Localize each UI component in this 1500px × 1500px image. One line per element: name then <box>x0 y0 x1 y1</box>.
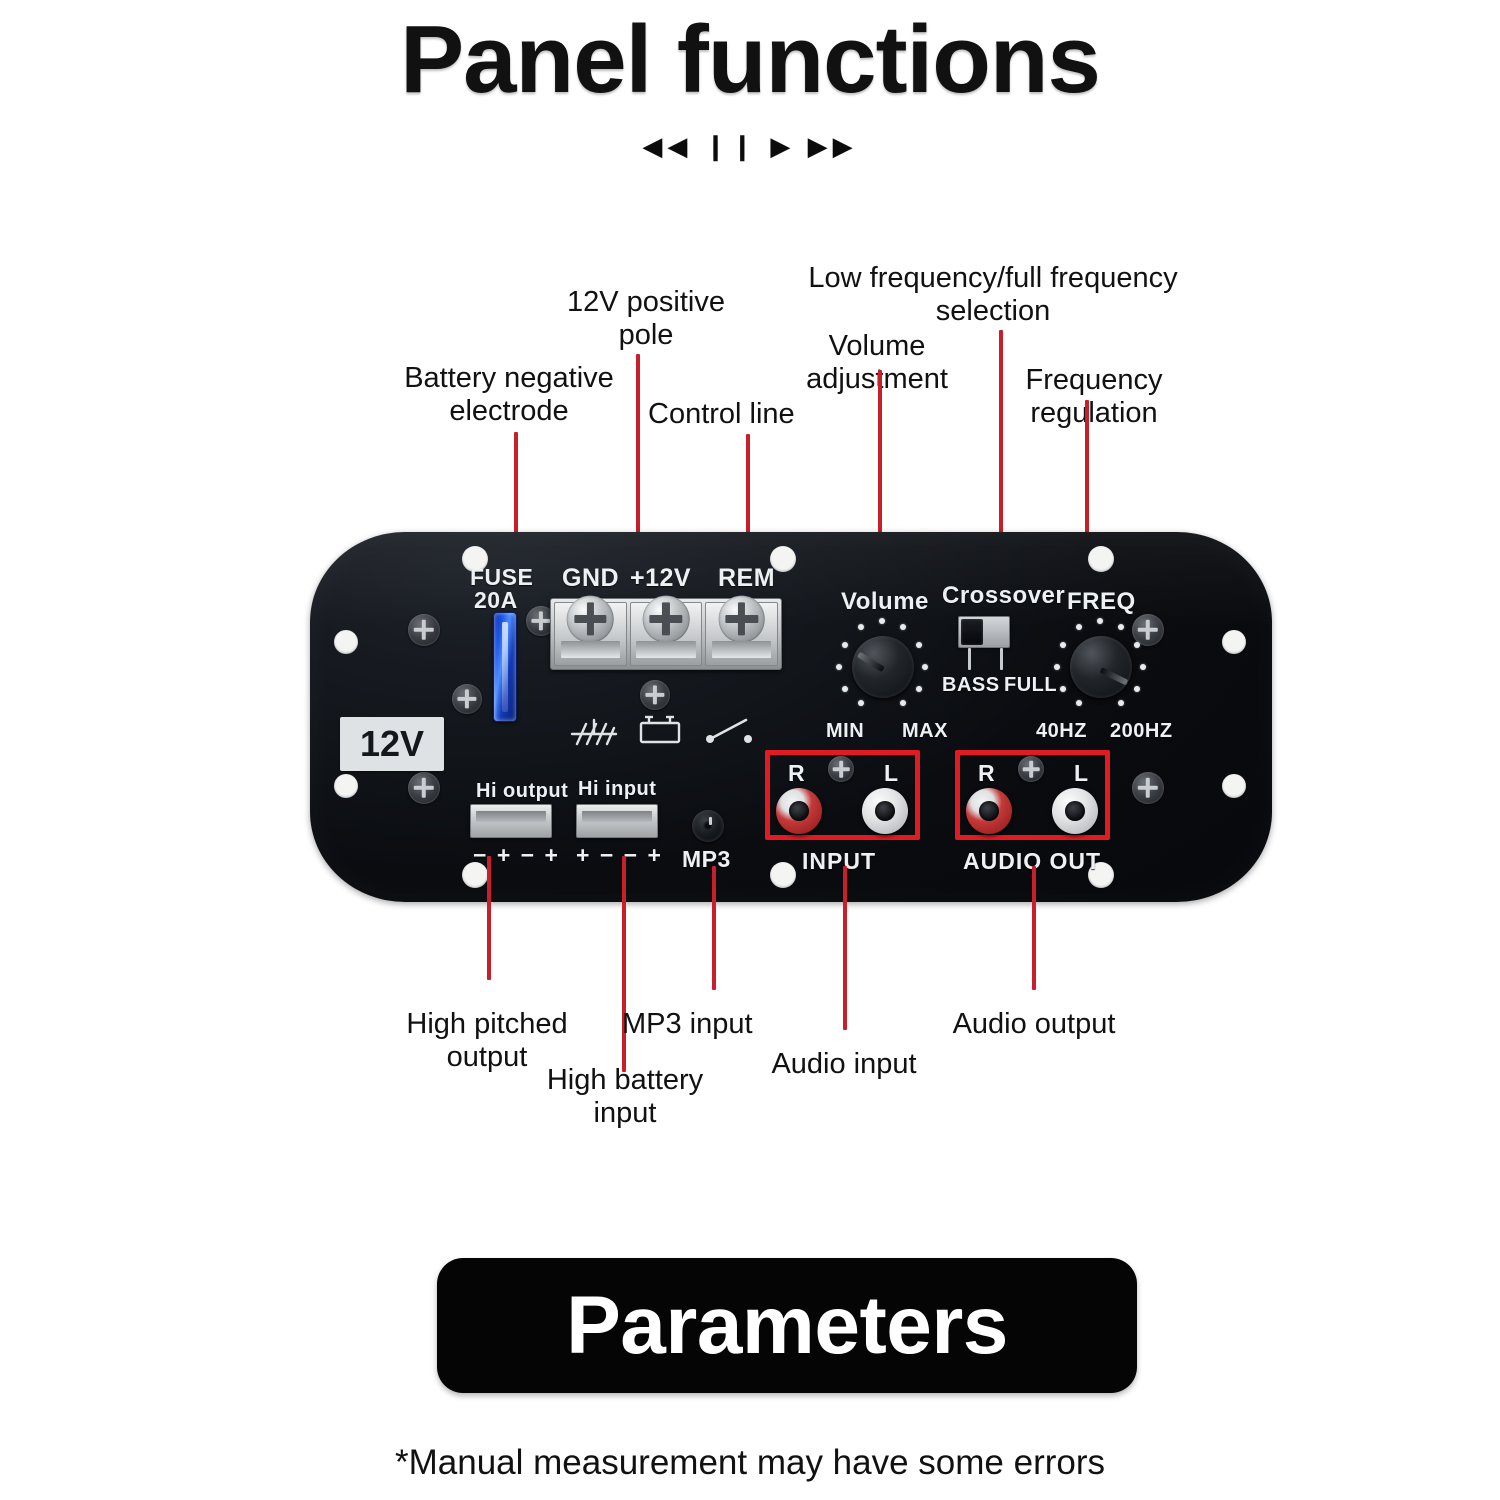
amplifier-board: FUSE 20A 12V GND +12V REM <box>310 532 1272 902</box>
callout-lowfreq-line1: Low frequency/full frequency <box>764 262 1222 295</box>
volume-label: Volume <box>841 588 929 616</box>
hi-input-connector[interactable] <box>576 804 658 838</box>
knob-tick-dot <box>1076 624 1082 630</box>
screw <box>408 772 440 804</box>
freq-knob-assembly[interactable] <box>1052 618 1148 714</box>
callout-12v-positive-line2: pole <box>540 319 752 352</box>
knob-tick-dot <box>836 664 842 670</box>
mounting-hole <box>1222 774 1246 798</box>
screw <box>452 684 482 714</box>
knob-tick-dot <box>842 686 848 692</box>
crossover-switch-leg <box>1000 648 1003 670</box>
callout-high-battery-line2: input <box>510 1097 740 1130</box>
freq-label: FREQ <box>1067 588 1136 616</box>
hi-input-polarity: + − − + <box>576 842 663 869</box>
crossover-switch-leg <box>968 648 971 670</box>
knob-tick-dot <box>1097 618 1103 624</box>
ground-symbol-icon <box>568 712 620 751</box>
terminal-label-plus12v: +12V <box>630 564 691 593</box>
terminal-screw-icon <box>567 596 614 643</box>
hi-output-connector[interactable] <box>470 804 552 838</box>
terminal-plus12v[interactable] <box>630 602 703 666</box>
screw <box>408 614 440 646</box>
knob-tick-dot <box>900 700 906 706</box>
callout-battery-negative-line1: Battery negative <box>378 362 640 395</box>
callout-high-pitched-line1: High pitched <box>372 1008 602 1041</box>
knob-tick-dot <box>916 686 922 692</box>
rca-jack-input-right[interactable] <box>776 788 822 834</box>
knob-tick-dot <box>1118 700 1124 706</box>
page-title: Panel functions <box>0 12 1500 108</box>
rca-output-left-label: L <box>1074 760 1089 787</box>
knob-tick-dot <box>1054 664 1060 670</box>
mounting-hole <box>1222 630 1246 654</box>
power-terminal-block[interactable] <box>550 598 782 670</box>
pointer-mp3-input <box>712 866 716 990</box>
terminal-slot <box>712 641 771 657</box>
rca-input-group-label: INPUT <box>802 848 876 875</box>
callout-12v-positive-pole: 12V positive pole <box>540 286 752 352</box>
volume-min-label: MIN <box>826 720 864 743</box>
knob-indicator <box>1100 667 1128 685</box>
pointer-audio-output <box>1032 866 1036 990</box>
knob-tick-dot <box>842 642 848 648</box>
callout-volume-adjustment: Volume adjustment <box>778 330 976 396</box>
knob-tick-dot <box>900 624 906 630</box>
rca-jack-input-left[interactable] <box>862 788 908 834</box>
callout-control-line-text: Control line <box>648 398 844 431</box>
callout-frequency-line1: Frequency <box>996 364 1192 397</box>
freq-max-label: 200HZ <box>1110 720 1173 743</box>
media-controls-icon-row: ◀◀ ❙❙ ▶ ▶▶ ◀◀ ❙❙ ▶ ▶▶ <box>0 133 1500 159</box>
callout-mp3-input: MP3 input <box>622 1008 802 1041</box>
terminal-gnd[interactable] <box>554 602 627 666</box>
knob-tick-dot <box>858 624 864 630</box>
freq-min-label: 40HZ <box>1036 720 1087 743</box>
crossover-switch[interactable] <box>958 616 1010 648</box>
media-icons-reflection: ◀◀ ❙❙ ▶ ▶▶ <box>0 142 1500 159</box>
callout-volume-line1: Volume <box>778 330 976 363</box>
terminal-slot <box>561 641 620 657</box>
knob-tick-dot <box>1118 624 1124 630</box>
terminal-label-gnd: GND <box>562 564 619 593</box>
fuse-label-line2: 20A <box>474 587 518 614</box>
mounting-hole <box>1088 546 1114 572</box>
terminal-screw-icon <box>718 596 765 643</box>
pointer-audio-input <box>843 866 847 1030</box>
knob-tick-dot <box>1060 642 1066 648</box>
callout-audio-input: Audio input <box>746 1048 942 1081</box>
callout-high-battery-line1: High battery <box>510 1064 740 1097</box>
screw <box>640 680 670 710</box>
terminal-slot <box>636 641 695 657</box>
switch-symbol-icon <box>702 712 758 751</box>
parameters-banner-text: Parameters <box>566 1279 1008 1373</box>
terminal-label-rem: REM <box>718 564 775 593</box>
terminal-screw-icon <box>643 596 690 643</box>
battery-symbol-icon <box>636 712 684 751</box>
mounting-hole <box>334 774 358 798</box>
callout-low-full-frequency-selection: Low frequency/full frequency selection <box>764 262 1222 328</box>
callout-high-battery-input: High battery input <box>510 1064 740 1130</box>
callout-audio-output-text: Audio output <box>920 1008 1148 1041</box>
screw <box>1132 772 1164 804</box>
footnote-disclaimer: *Manual measurement may have some errors <box>0 1443 1500 1483</box>
parameters-banner: Parameters <box>437 1258 1137 1393</box>
mp3-jack[interactable] <box>692 810 724 842</box>
knob-tick-dot <box>1134 686 1140 692</box>
callout-12v-positive-line1: 12V positive <box>540 286 752 319</box>
freq-knob[interactable] <box>1070 636 1132 698</box>
fuse-blue[interactable] <box>493 612 517 722</box>
callout-frequency-line2: regulation <box>996 397 1192 430</box>
mp3-label: MP3 <box>682 846 731 873</box>
terminal-rem[interactable] <box>705 602 778 666</box>
mounting-hole <box>334 630 358 654</box>
mounting-hole <box>770 862 796 888</box>
knob-tick-dot <box>879 618 885 624</box>
knob-tick-dot <box>916 642 922 648</box>
crossover-label: Crossover <box>942 582 1065 610</box>
crossover-switch-lever[interactable] <box>961 619 983 645</box>
callout-mp3-input-text: MP3 input <box>622 1008 802 1041</box>
callout-lowfreq-line2: selection <box>764 295 1222 328</box>
hi-input-label: Hi input <box>578 778 656 801</box>
voltage-badge-12v: 12V <box>340 717 444 771</box>
hi-output-label: Hi output <box>476 780 568 803</box>
volume-knob-assembly[interactable] <box>834 618 930 714</box>
crossover-full-label: FULL <box>1004 674 1057 697</box>
knob-tick-dot <box>858 700 864 706</box>
callout-audio-output: Audio output <box>920 1008 1148 1041</box>
volume-max-label: MAX <box>902 720 948 743</box>
rca-output-right-label: R <box>978 760 995 787</box>
callout-volume-line2: adjustment <box>778 363 976 396</box>
knob-tick-dot <box>1076 700 1082 706</box>
callout-frequency-regulation: Frequency regulation <box>996 364 1192 430</box>
pointer-high-pitched-output <box>487 856 491 980</box>
rca-jack-output-left[interactable] <box>1052 788 1098 834</box>
callout-battery-negative-electrode: Battery negative electrode <box>378 362 640 428</box>
screw <box>1018 756 1044 782</box>
callout-control-line: Control line <box>648 398 844 431</box>
callout-audio-input-text: Audio input <box>746 1048 942 1081</box>
crossover-bass-label: BASS <box>942 674 1000 697</box>
volume-knob[interactable] <box>852 636 914 698</box>
knob-tick-dot <box>922 664 928 670</box>
rca-input-left-label: L <box>884 760 899 787</box>
knob-tick-dot <box>1060 686 1066 692</box>
knob-indicator <box>857 652 884 672</box>
knob-tick-dot <box>1134 642 1140 648</box>
screw <box>828 756 854 782</box>
callout-battery-negative-line2: electrode <box>378 395 640 428</box>
rca-jack-output-right[interactable] <box>966 788 1012 834</box>
knob-tick-dot <box>1140 664 1146 670</box>
rca-input-right-label: R <box>788 760 805 787</box>
